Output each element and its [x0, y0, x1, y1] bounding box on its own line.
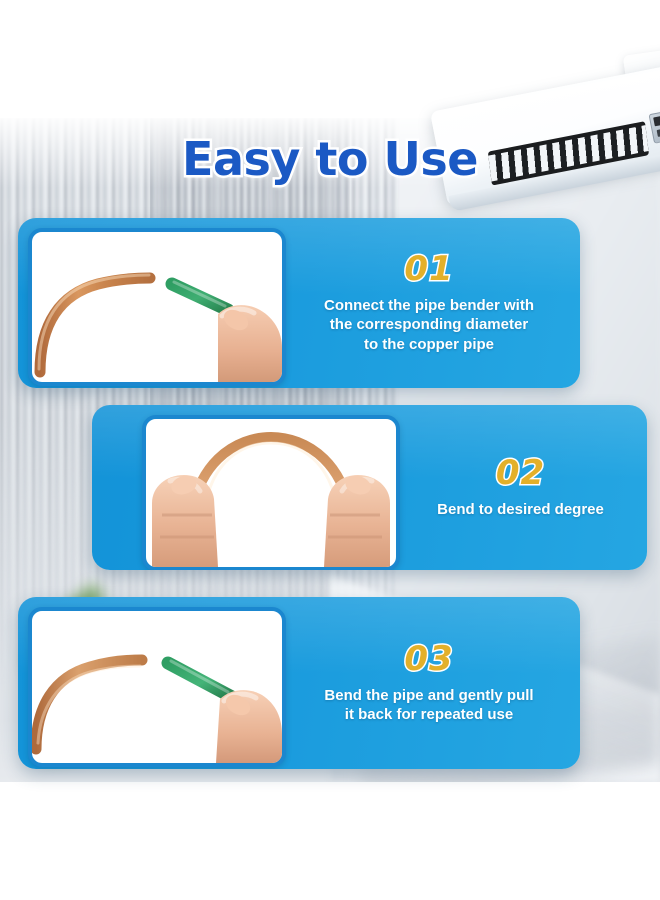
- step-description-01: Connect the pipe bender with the corresp…: [324, 296, 534, 355]
- poster-root: Easy to Use: [0, 0, 660, 900]
- step-text-01: 01 Connect the pipe bender with the corr…: [286, 218, 572, 388]
- step-number-02: 02: [496, 456, 545, 490]
- step-card-03[interactable]: 03 Bend the pipe and gently pull it back…: [18, 597, 580, 769]
- step-text-03: 03 Bend the pipe and gently pull it back…: [286, 597, 572, 769]
- air-conditioner-display-panel: [648, 109, 660, 144]
- air-conditioner-body: [430, 64, 660, 206]
- step-image-03: [28, 607, 286, 767]
- step-image-01: [28, 228, 286, 386]
- copper-pipe-illustration-01: [32, 232, 282, 382]
- step-text-02: 02 Bend to desired degree: [402, 405, 639, 570]
- step-number-03: 03: [404, 642, 453, 676]
- copper-pipe-illustration-02: [146, 419, 396, 567]
- copper-pipe-illustration-03: [32, 611, 282, 763]
- step-image-02: [142, 415, 400, 570]
- step-description-03: Bend the pipe and gently pull it back fo…: [324, 686, 533, 725]
- step-card-01[interactable]: 01 Connect the pipe bender with the corr…: [18, 218, 580, 388]
- step-card-02[interactable]: 02 Bend to desired degree: [92, 405, 647, 570]
- step-number-01: 01: [404, 252, 453, 286]
- step-description-02: Bend to desired degree: [437, 500, 604, 520]
